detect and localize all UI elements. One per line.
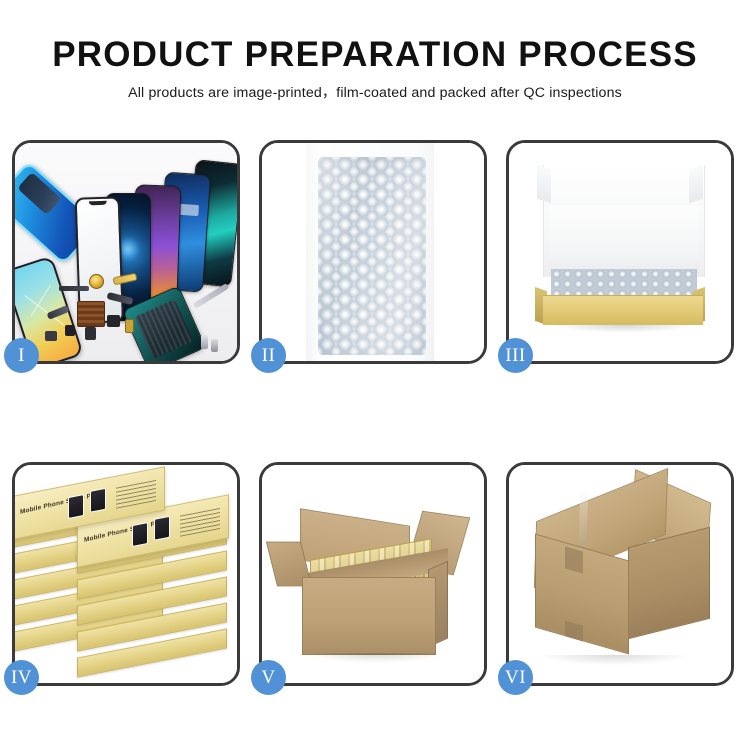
carton-shadow bbox=[306, 653, 446, 663]
spare-part-block-b bbox=[85, 327, 96, 340]
step-2-image bbox=[262, 143, 484, 361]
retail-box-product-photo-4 bbox=[90, 488, 106, 513]
spare-part-block-c bbox=[65, 325, 75, 336]
step-6-image bbox=[509, 465, 731, 683]
process-step-grid: I II bbox=[12, 140, 738, 686]
spare-part-strip bbox=[59, 286, 89, 291]
step-3-image bbox=[509, 143, 731, 361]
product-preparation-infographic: PRODUCT PREPARATION PROCESS All products… bbox=[0, 0, 750, 750]
retail-box-product-photo-2 bbox=[154, 516, 170, 541]
retail-box-product-photo-1 bbox=[132, 522, 148, 547]
inner-box-foam-sheet bbox=[549, 205, 699, 275]
spare-part-screw-b bbox=[211, 339, 218, 352]
inner-box-shadow bbox=[551, 325, 697, 333]
step-badge-5: V bbox=[251, 660, 286, 695]
process-step-panel-4: Mobile Phone Spare Parts Mobile Phone Sp… bbox=[12, 462, 240, 686]
process-step-panel-5: V bbox=[259, 462, 487, 686]
process-step-panel-1: I bbox=[12, 140, 240, 364]
inner-box-lid-flap-left bbox=[537, 165, 551, 204]
spare-part-block-a bbox=[107, 315, 120, 327]
spare-part-block-gold bbox=[125, 319, 134, 333]
process-step-panel-6: VI bbox=[506, 462, 734, 686]
step-badge-6: VI bbox=[498, 660, 533, 695]
retail-box-stack: Mobile Phone Spare Parts Mobile Phone Sp… bbox=[15, 475, 237, 683]
spare-part-chip-grid bbox=[77, 301, 105, 327]
process-step-panel-3: III bbox=[506, 140, 734, 364]
spare-part-screw-a bbox=[201, 335, 208, 349]
step-5-image bbox=[262, 465, 484, 683]
step-badge-2: II bbox=[251, 338, 286, 373]
bubble-wrap-gloss bbox=[306, 143, 434, 361]
step-1-image bbox=[15, 143, 237, 361]
header: PRODUCT PREPARATION PROCESS All products… bbox=[0, 34, 750, 103]
carton-front-panel bbox=[302, 577, 436, 655]
step-4-image: Mobile Phone Spare Parts Mobile Phone Sp… bbox=[15, 465, 237, 683]
page-subtitle: All products are image-printed，film-coat… bbox=[0, 83, 750, 103]
inner-box-tray-front bbox=[543, 295, 703, 325]
step-badge-3: III bbox=[498, 338, 533, 373]
retail-box-spec-lines-back bbox=[116, 479, 156, 509]
spare-part-block-e bbox=[45, 331, 57, 341]
inner-box-lid-flap-right bbox=[689, 165, 703, 204]
step-badge-1: I bbox=[4, 338, 39, 373]
process-step-panel-2: II bbox=[259, 140, 487, 364]
spare-part-coil bbox=[89, 274, 104, 289]
step-badge-4: IV bbox=[4, 660, 39, 695]
page-title: PRODUCT PREPARATION PROCESS bbox=[0, 34, 750, 76]
sealed-carton-shadow bbox=[539, 655, 689, 665]
retail-box-product-photo-3 bbox=[68, 494, 84, 519]
retail-box-spec-lines-front bbox=[180, 507, 220, 537]
